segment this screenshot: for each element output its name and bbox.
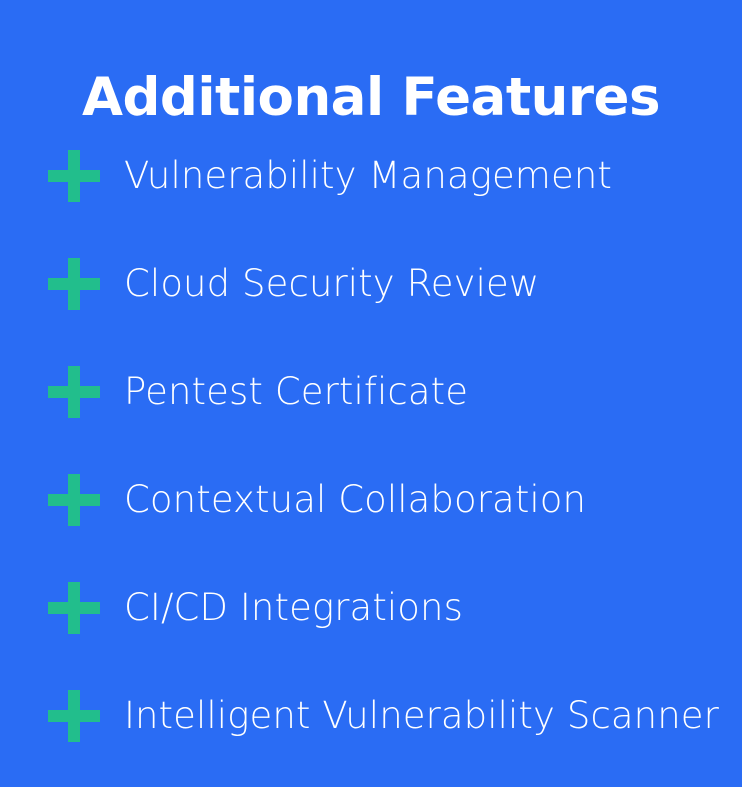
- feature-list: Vulnerability Management Cloud Security …: [0, 122, 742, 770]
- list-item: Contextual Collaboration: [0, 446, 742, 554]
- feature-label: Contextual Collaboration: [124, 477, 586, 523]
- list-item: Pentest Certificate: [0, 338, 742, 446]
- feature-label: Pentest Certificate: [124, 369, 468, 415]
- feature-label: Cloud Security Review: [124, 261, 539, 307]
- page-title: Additional Features: [0, 66, 742, 130]
- list-item: Vulnerability Management: [0, 122, 742, 230]
- plus-icon: [48, 474, 100, 526]
- feature-label: CI/CD Integrations: [124, 585, 463, 631]
- plus-icon: [48, 582, 100, 634]
- feature-label: Vulnerability Management: [124, 153, 612, 199]
- plus-icon: [48, 258, 100, 310]
- plus-icon: [48, 690, 100, 742]
- plus-icon: [48, 366, 100, 418]
- feature-label: Intelligent Vulnerability Scanner: [124, 693, 719, 739]
- plus-icon: [48, 150, 100, 202]
- list-item: Cloud Security Review: [0, 230, 742, 338]
- list-item: Intelligent Vulnerability Scanner: [0, 662, 742, 770]
- additional-features-card: Additional Features Vulnerability Manage…: [0, 0, 742, 787]
- list-item: CI/CD Integrations: [0, 554, 742, 662]
